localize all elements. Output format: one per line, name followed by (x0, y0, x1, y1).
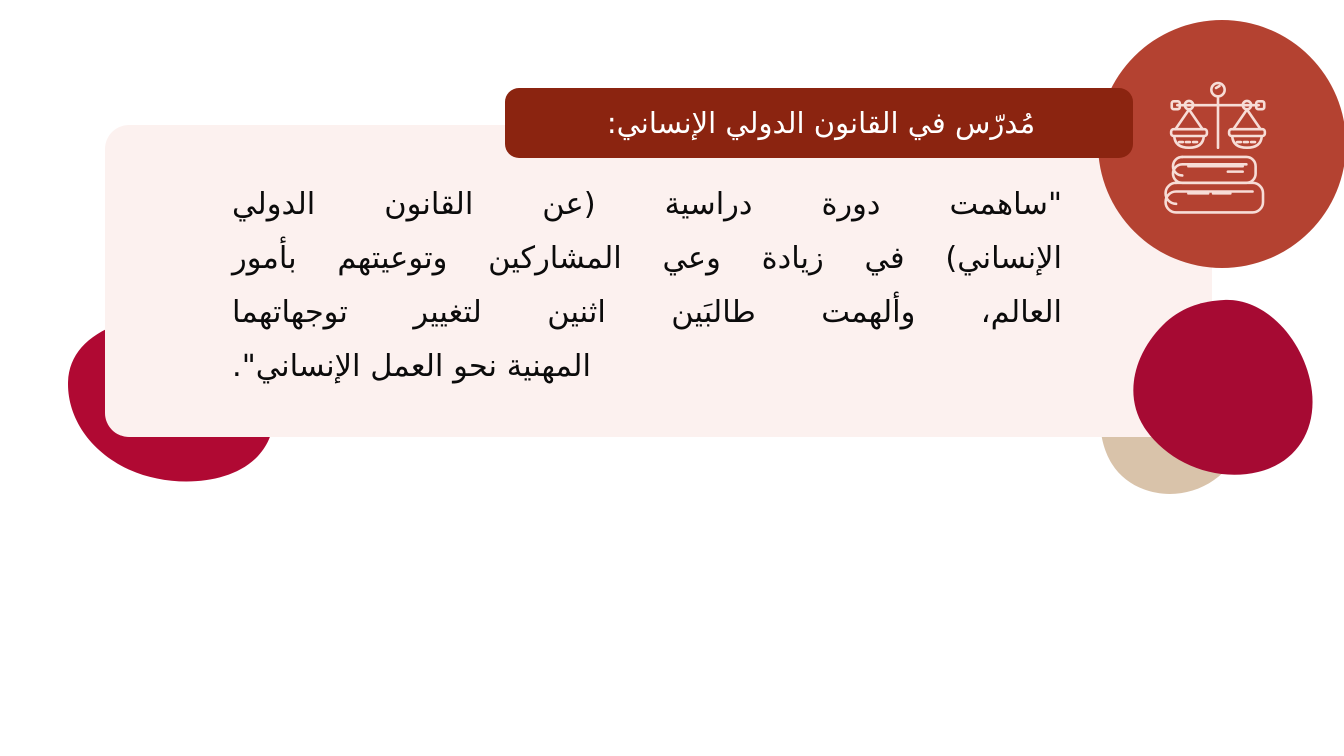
quote-line-2: الإنساني) في زيادة وعي المشاركين وتوعيته… (232, 232, 1062, 286)
quote-text: "ساهمت دورة دراسية (عن القانون الدولي ال… (232, 178, 1062, 394)
role-badge: مُدرّس في القانون الدولي الإنساني: (505, 88, 1133, 158)
icon-circle-badge (1098, 20, 1344, 268)
scales-of-justice-on-books-icon (1144, 70, 1300, 218)
slide-canvas: مُدرّس في القانون الدولي الإنساني: "ساهم… (0, 0, 1344, 756)
quote-line-4: المهنية نحو العمل الإنساني". (232, 340, 1062, 394)
role-badge-label: مُدرّس في القانون الدولي الإنساني: (607, 109, 1035, 138)
quote-line-1: "ساهمت دورة دراسية (عن القانون الدولي (232, 178, 1062, 232)
quote-line-3: العالم، وألهمت طالبَين اثنين لتغيير توجه… (232, 286, 1062, 340)
